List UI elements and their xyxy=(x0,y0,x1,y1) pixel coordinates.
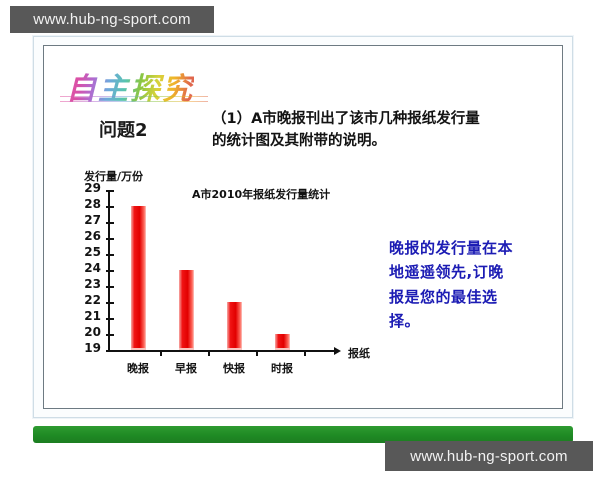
x-tick xyxy=(208,351,210,356)
y-tick: 19 xyxy=(106,350,114,352)
watermark-top: www.hub-ng-sport.com xyxy=(10,6,214,33)
y-tick-label: 20 xyxy=(84,326,101,338)
y-tick-label: 21 xyxy=(84,310,101,322)
x-category-label: 早报 xyxy=(175,360,197,376)
y-tick-label: 28 xyxy=(84,198,101,210)
y-tick-label: 27 xyxy=(84,214,101,226)
y-tick: 20 xyxy=(106,334,114,336)
y-tick-label: 25 xyxy=(84,246,101,258)
y-tick: 23 xyxy=(106,286,114,288)
x-axis-arrow-icon xyxy=(334,347,341,355)
bar-chart: 发行量/万份 A市2010年报纸发行量统计 292827262524232221… xyxy=(62,168,362,383)
x-category-label: 晚报 xyxy=(127,360,149,376)
y-tick: 28 xyxy=(106,206,114,208)
y-tick-label: 19 xyxy=(84,342,101,354)
slide-panel: 自主探究 问题2 （1）A市晚报刊出了该市几种报纸发行量的统计图及其附带的说明。… xyxy=(33,36,573,418)
x-tick xyxy=(160,351,162,356)
y-tick-label: 22 xyxy=(84,294,101,306)
slide-inner-frame: 自主探究 问题2 （1）A市晚报刊出了该市几种报纸发行量的统计图及其附带的说明。… xyxy=(43,45,563,409)
y-tick: 25 xyxy=(106,254,114,256)
bar-快报 xyxy=(227,302,242,350)
x-category-label: 快报 xyxy=(223,360,245,376)
x-axis-label: 报纸 xyxy=(348,345,370,361)
y-tick: 26 xyxy=(106,238,114,240)
y-tick-label: 23 xyxy=(84,278,101,290)
y-tick: 29 xyxy=(106,190,114,192)
y-tick-label: 24 xyxy=(84,262,101,274)
bar-早报 xyxy=(179,270,194,350)
question-label: 问题2 xyxy=(99,116,148,142)
y-tick: 27 xyxy=(106,222,114,224)
y-tick: 21 xyxy=(106,318,114,320)
plot-area: 2928272625242322212019 晚报早报快报时报 报纸 xyxy=(108,190,328,352)
x-tick xyxy=(256,351,258,356)
prompt-text: （1）A市晚报刊出了该市几种报纸发行量的统计图及其附带的说明。 xyxy=(212,108,492,153)
bar-时报 xyxy=(275,334,290,350)
heading-decoration xyxy=(60,92,208,102)
advertisement-note: 晚报的发行量在本地遥遥领先,订晚报是您的最佳选择。 xyxy=(389,236,519,333)
y-tick-label: 26 xyxy=(84,230,101,242)
watermark-bottom: www.hub-ng-sport.com xyxy=(385,441,593,471)
bar-晚报 xyxy=(131,206,146,350)
x-category-label: 时报 xyxy=(271,360,293,376)
y-tick: 24 xyxy=(106,270,114,272)
x-axis-line xyxy=(108,350,336,352)
y-tick-label: 29 xyxy=(84,182,101,194)
x-tick xyxy=(304,351,306,356)
y-tick: 22 xyxy=(106,302,114,304)
